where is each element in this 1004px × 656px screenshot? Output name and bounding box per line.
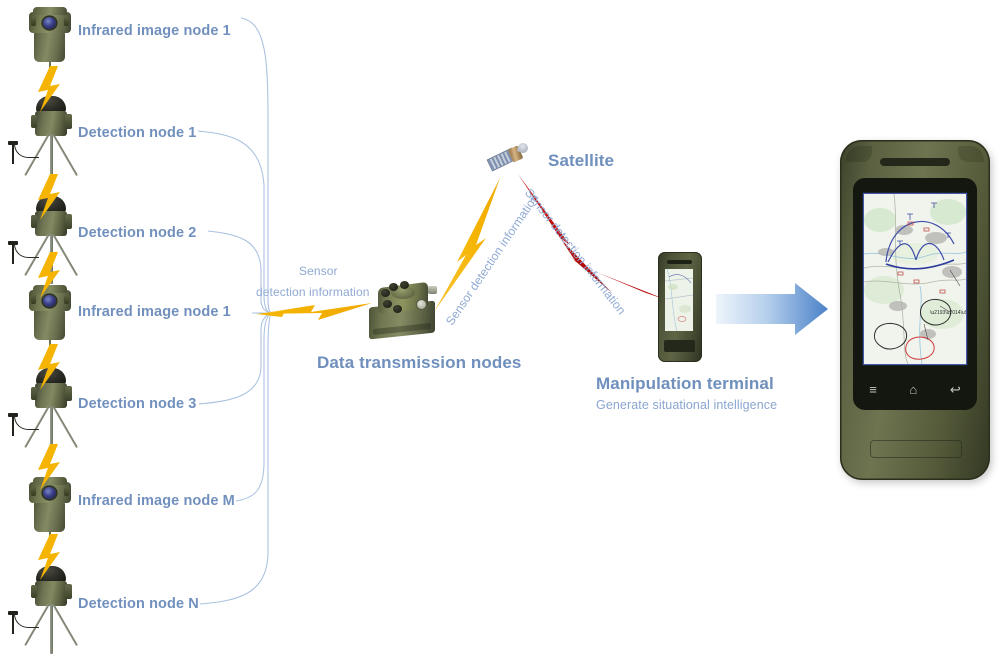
node-label-4: Detection node 3 — [78, 396, 196, 412]
infrared-camera-icon — [24, 284, 76, 342]
satellite-label: Satellite — [548, 151, 614, 171]
node-label-1: Detection node 1 — [78, 125, 196, 141]
tripod-detector-icon — [10, 368, 92, 458]
flow-label-sensor-line1: Sensor — [299, 264, 338, 278]
tripod-detector-icon — [10, 96, 92, 186]
terminal-to-tablet-arrow — [716, 283, 828, 335]
rugged-tablet-icon: \u2193\u2014\u95f4\u2014 ≡ ⌂ ↩ — [840, 140, 990, 480]
tablet-map-screen: \u2193\u2014\u95f4\u2014 — [864, 194, 966, 364]
flow-label-sensor-line2: detection information — [256, 285, 370, 299]
diagram-canvas: Infrared image node 1 Detection node 1 D… — [0, 0, 1004, 652]
infrared-camera-icon — [24, 6, 76, 64]
relay-label: Data transmission nodes — [317, 353, 521, 373]
menu-icon[interactable]: ≡ — [869, 383, 877, 396]
sensor-to-relay-arrow — [256, 303, 372, 320]
lens-icon — [43, 17, 56, 29]
terminal-label: Manipulation terminal — [596, 374, 774, 394]
infrared-camera-icon — [24, 476, 76, 534]
node-label-6: Detection node N — [78, 596, 199, 612]
terminal-subtitle: Generate situational intelligence — [596, 398, 777, 412]
lens-icon — [43, 487, 56, 499]
tripod-detector-icon — [10, 196, 92, 286]
handheld-terminal-icon — [658, 252, 702, 362]
relay-node-icon — [367, 277, 441, 343]
home-icon[interactable]: ⌂ — [909, 383, 917, 396]
node-label-3: Infrared image node 1 — [78, 304, 231, 320]
node-label-5: Infrared image node M — [78, 493, 235, 509]
node-label-2: Detection node 2 — [78, 225, 196, 241]
node-label-0: Infrared image node 1 — [78, 23, 231, 39]
back-icon[interactable]: ↩ — [950, 383, 961, 396]
satellite-icon — [488, 141, 532, 177]
handheld-screen — [665, 269, 693, 331]
lens-icon — [43, 295, 56, 307]
tablet-navigation-bar[interactable]: ≡ ⌂ ↩ — [853, 376, 977, 402]
